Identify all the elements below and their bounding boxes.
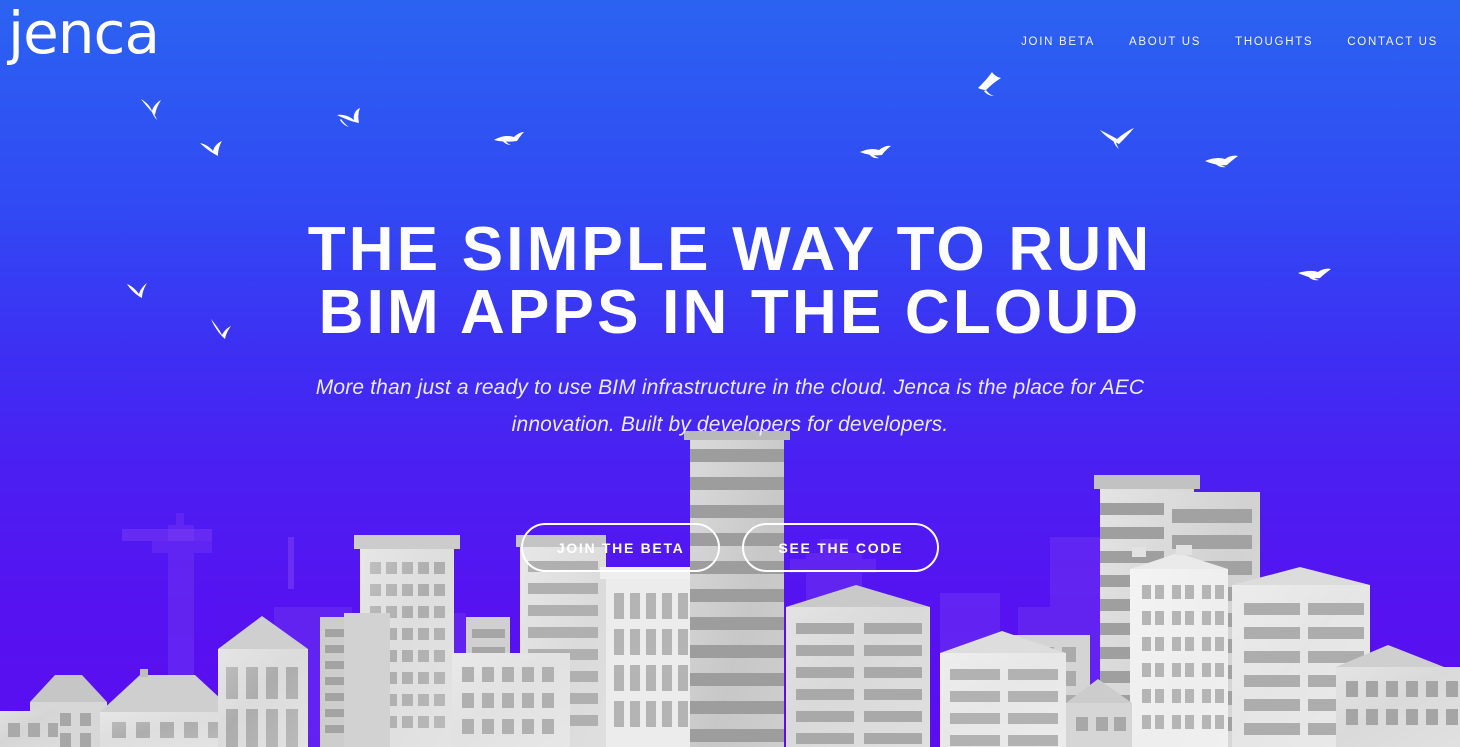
nav-item-thoughts[interactable]: THOUGHTS xyxy=(1235,36,1313,48)
headline-line-2: BIM APPS IN THE CLOUD xyxy=(120,281,1340,344)
hero-copy: THE SIMPLE WAY TO RUN BIM APPS IN THE CL… xyxy=(0,218,1460,443)
nav-item-join-beta[interactable]: JOIN BETA xyxy=(1021,36,1095,48)
bird-icon xyxy=(492,128,526,150)
bird-icon xyxy=(858,142,892,164)
main-nav: JOIN BETA ABOUT US THOUGHTS CONTACT US xyxy=(1021,36,1438,48)
bird-icon xyxy=(1203,152,1239,174)
page-title: THE SIMPLE WAY TO RUN BIM APPS IN THE CL… xyxy=(120,218,1340,344)
nav-item-about-us[interactable]: ABOUT US xyxy=(1129,36,1201,48)
cta-button-group: JOIN THE BETA SEE THE CODE xyxy=(0,523,1460,572)
bird-icon xyxy=(138,95,168,121)
site-header: jenca JOIN BETA ABOUT US THOUGHTS CONTAC… xyxy=(0,0,1460,88)
see-code-button[interactable]: SEE THE CODE xyxy=(742,523,939,572)
logo[interactable]: jenca xyxy=(8,4,159,62)
hero-subheadline: More than just a ready to use BIM infras… xyxy=(285,370,1175,442)
nav-item-contact-us[interactable]: CONTACT US xyxy=(1347,36,1438,48)
bird-icon xyxy=(333,106,365,132)
headline-line-1: THE SIMPLE WAY TO RUN xyxy=(120,218,1340,281)
hero-section: jenca JOIN BETA ABOUT US THOUGHTS CONTAC… xyxy=(0,0,1460,747)
bird-icon xyxy=(198,137,226,161)
bird-icon xyxy=(614,188,634,204)
bird-icon xyxy=(1098,123,1136,151)
join-beta-button[interactable]: JOIN THE BETA xyxy=(521,523,721,572)
